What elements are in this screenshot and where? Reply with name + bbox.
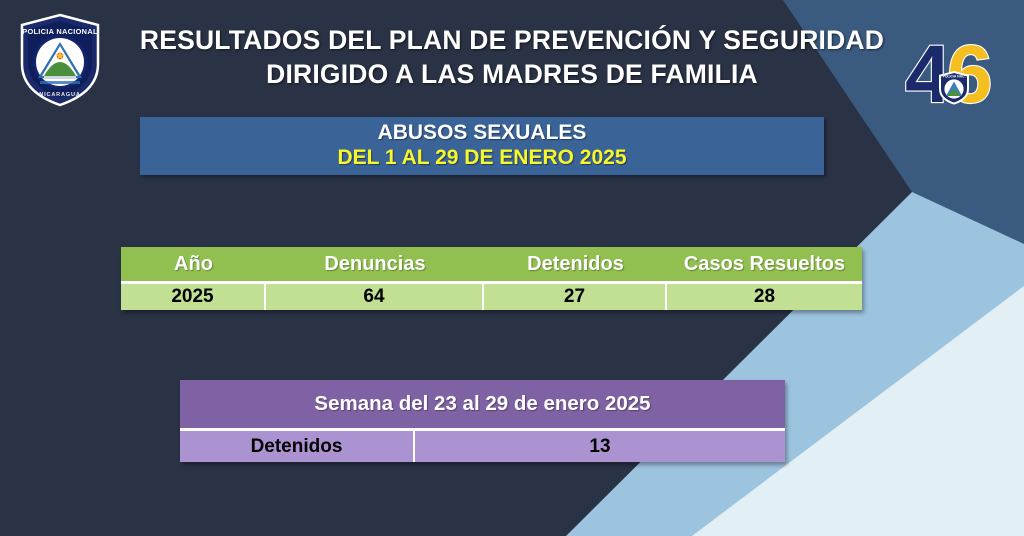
anniversary-46-svg: 4 6 POLICIA NAC. bbox=[903, 26, 1011, 118]
svg-text:POLICIA NAC.: POLICIA NAC. bbox=[943, 75, 966, 79]
banner-date-range: DEL 1 AL 29 DE ENERO 2025 bbox=[337, 145, 626, 170]
column-header-casos-resueltos: Casos Resueltos bbox=[667, 247, 862, 281]
anniversary-46-icon: 4 6 POLICIA NAC. bbox=[903, 26, 1011, 118]
weekly-table-title: Semana del 23 al 29 de enero 2025 bbox=[314, 392, 650, 416]
police-badge-svg: POLICIA NACIONAL NICARAGUA bbox=[14, 12, 106, 108]
yearly-statistics-table: Año Denuncias Detenidos Casos Resueltos … bbox=[121, 247, 862, 310]
cell-label-detenidos: Detenidos bbox=[180, 431, 415, 462]
slide-root: POLICIA NACIONAL NICARAGUA 4 6 POLICIA N… bbox=[0, 0, 1024, 536]
column-header-detenidos: Detenidos bbox=[484, 247, 667, 281]
table-header-row: Año Denuncias Detenidos Casos Resueltos bbox=[121, 247, 862, 281]
page-title: RESULTADOS DEL PLAN DE PREVENCIÓN Y SEGU… bbox=[120, 24, 904, 92]
banner-subject: ABUSOS SEXUALES bbox=[378, 121, 587, 145]
weekly-table-header-row: Semana del 23 al 29 de enero 2025 bbox=[180, 380, 785, 428]
cell-denuncias: 64 bbox=[266, 284, 484, 310]
police-badge-icon: POLICIA NACIONAL NICARAGUA bbox=[14, 12, 106, 108]
cell-ano: 2025 bbox=[121, 284, 266, 310]
svg-text:POLICIA NACIONAL: POLICIA NACIONAL bbox=[22, 27, 98, 36]
cell-casos-resueltos: 28 bbox=[667, 284, 862, 310]
svg-text:4: 4 bbox=[905, 29, 951, 118]
table-row: 2025 64 27 28 bbox=[121, 281, 862, 310]
cell-value-detenidos: 13 bbox=[415, 431, 785, 462]
cell-detenidos: 27 bbox=[484, 284, 667, 310]
column-header-denuncias: Denuncias bbox=[266, 247, 484, 281]
table-row: Detenidos 13 bbox=[180, 428, 785, 462]
column-header-ano: Año bbox=[121, 247, 266, 281]
svg-text:NICARAGUA: NICARAGUA bbox=[39, 92, 80, 98]
subject-banner: ABUSOS SEXUALES DEL 1 AL 29 DE ENERO 202… bbox=[140, 117, 824, 175]
weekly-statistics-table: Semana del 23 al 29 de enero 2025 Deteni… bbox=[180, 380, 785, 462]
